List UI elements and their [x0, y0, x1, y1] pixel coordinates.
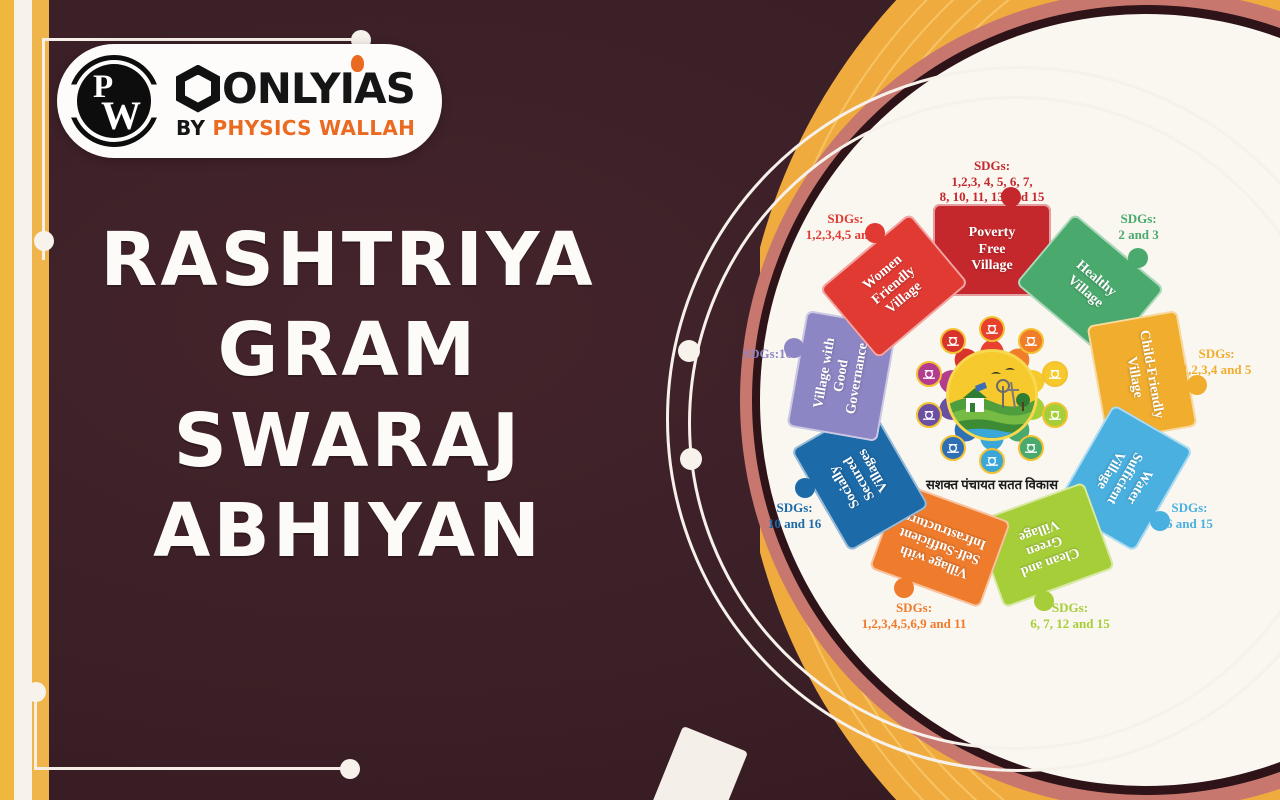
sdg-caption: SDGs:6, 7, 12 and 15	[1000, 600, 1140, 631]
puzzle-knob-icon	[1187, 375, 1207, 395]
brand-name-text: ONLYIAS	[222, 64, 415, 113]
sdg-values: 1,2,3, 4, 5, 6, 7,	[922, 174, 1062, 190]
sdg-values: 1,2,3,4,5 and 8	[775, 227, 915, 243]
edge-stripe-white	[14, 0, 32, 800]
puzzle-piece-label: PovertyFreeVillage	[961, 225, 1024, 275]
brand-tagline: BY PHYSICS WALLAH	[176, 118, 415, 138]
corner-bracket-top-vertical	[42, 38, 45, 260]
sdg-title: SDGs:16	[743, 346, 792, 361]
corner-bracket-bottom-horizontal	[34, 767, 349, 770]
emblem-sdg-badge-icon	[916, 361, 942, 387]
title-line-4: ABHIYAN	[88, 486, 608, 576]
emblem-sdg-badge-icon	[979, 448, 1005, 474]
sdg-caption: SDGs:1,2,3,4 and 5	[1147, 346, 1280, 377]
emblem-sdg-badge-icon	[1018, 328, 1044, 354]
page-title: RASHTRIYA GRAM SWARAJ ABHIYAN	[88, 215, 608, 576]
brand-logo[interactable]: P W ONLYIAS BY PHYSICS WALLAH	[57, 44, 442, 158]
monogram-letter-w: W	[101, 92, 141, 139]
emblem-hindi-caption: सशक्त पंचायत सतत विकास	[926, 475, 1058, 493]
sdg-caption: SDGs:6 and 15	[1119, 500, 1259, 531]
sdg-values: 6, 7, 12 and 15	[1000, 616, 1140, 632]
edge-stripe-amber	[32, 0, 49, 800]
emblem-village-scene-icon	[949, 352, 1035, 438]
corner-bracket-bottom-vertical	[34, 690, 37, 770]
sdg-values: 6 and 15	[1119, 516, 1259, 532]
title-line-1: RASHTRIYA	[88, 215, 608, 305]
sdg-title: SDGs:	[974, 158, 1010, 173]
central-emblem: सशक्त पंचायत सतत विकास	[903, 313, 1081, 491]
sdg-title: SDGs:	[776, 500, 812, 515]
corner-dot-top-left	[34, 231, 54, 251]
accent-arc-dot	[680, 448, 702, 470]
corner-dot-bottom-left	[26, 682, 46, 702]
sdg-caption: SDGs:1,2,3,4,5 and 8	[775, 211, 915, 242]
title-line-3: SWARAJ	[88, 396, 608, 486]
edge-stripe-gold	[0, 0, 14, 800]
sdg-caption: SDGs:1,2,3, 4, 5, 6, 7,8, 10, 11, 13 and…	[922, 158, 1062, 205]
sdg-puzzle-wheel: सशक्त पंचायत सतत विकास PovertyFreeVillag…	[762, 172, 1222, 632]
corner-dot-bottom-right	[340, 759, 360, 779]
sdg-caption: SDGs:10 and 16	[725, 500, 865, 531]
puzzle-knob-icon	[894, 578, 914, 598]
puzzle-piece-label: HealthyVillage	[1055, 252, 1125, 318]
sdg-title: SDGs:	[896, 600, 932, 615]
sdg-title: SDGs:	[1120, 211, 1156, 226]
brand-wordmark: ONLYIAS BY PHYSICS WALLAH	[176, 65, 415, 138]
sdg-caption: SDGs:2 and 3	[1069, 211, 1209, 242]
corner-bracket-top-horizontal	[42, 38, 360, 41]
puzzle-knob-icon	[1128, 248, 1148, 268]
orange-dot-icon	[351, 55, 364, 72]
sdg-values: 2 and 3	[1069, 227, 1209, 243]
physics-wallah-monogram-icon: P W	[68, 55, 160, 147]
emblem-sdg-badge-icon	[1042, 402, 1068, 428]
emblem-sdg-badge-icon	[916, 402, 942, 428]
sdg-title: SDGs:	[827, 211, 863, 226]
puzzle-knob-icon	[795, 478, 815, 498]
brand-name-row: ONLYIAS	[176, 65, 415, 113]
sdg-title: SDGs:	[1198, 346, 1234, 361]
emblem-sdg-badge-icon	[979, 316, 1005, 342]
emblem-sdg-badge-icon	[1042, 361, 1068, 387]
brand-by-label: BY	[176, 116, 205, 140]
brand-name: ONLYIAS	[222, 68, 415, 110]
sdg-caption: SDGs:16	[697, 346, 837, 362]
hexagon-o-icon	[176, 65, 220, 113]
sdg-values: 1,2,3,4,5,6,9 and 11	[844, 616, 984, 632]
emblem-sdg-badge-icon	[1018, 435, 1044, 461]
sdg-values: 8, 10, 11, 13 and 15	[922, 189, 1062, 205]
sdg-caption: SDGs:1,2,3,4,5,6,9 and 11	[844, 600, 984, 631]
monogram-disc: P W	[77, 64, 151, 138]
title-line-2: GRAM	[88, 305, 608, 395]
sdg-values: 1,2,3,4 and 5	[1147, 362, 1280, 378]
village-scene-svg	[949, 352, 1035, 438]
poster-canvas: P W ONLYIAS BY PHYSICS WALLAH RASHTRIYA …	[0, 0, 1280, 800]
sdg-values: 10 and 16	[725, 516, 865, 532]
sdg-title: SDGs:	[1171, 500, 1207, 515]
emblem-sdg-badge-icon	[940, 328, 966, 354]
puzzle-piece-label: Clean andGreenVillage	[999, 508, 1088, 581]
puzzle-piece-label: WomenFriendlyVillage	[853, 245, 936, 326]
brand-parent-name: PHYSICS WALLAH	[213, 116, 416, 140]
emblem-sdg-badge-icon	[940, 435, 966, 461]
sdg-title: SDGs:	[1052, 600, 1088, 615]
